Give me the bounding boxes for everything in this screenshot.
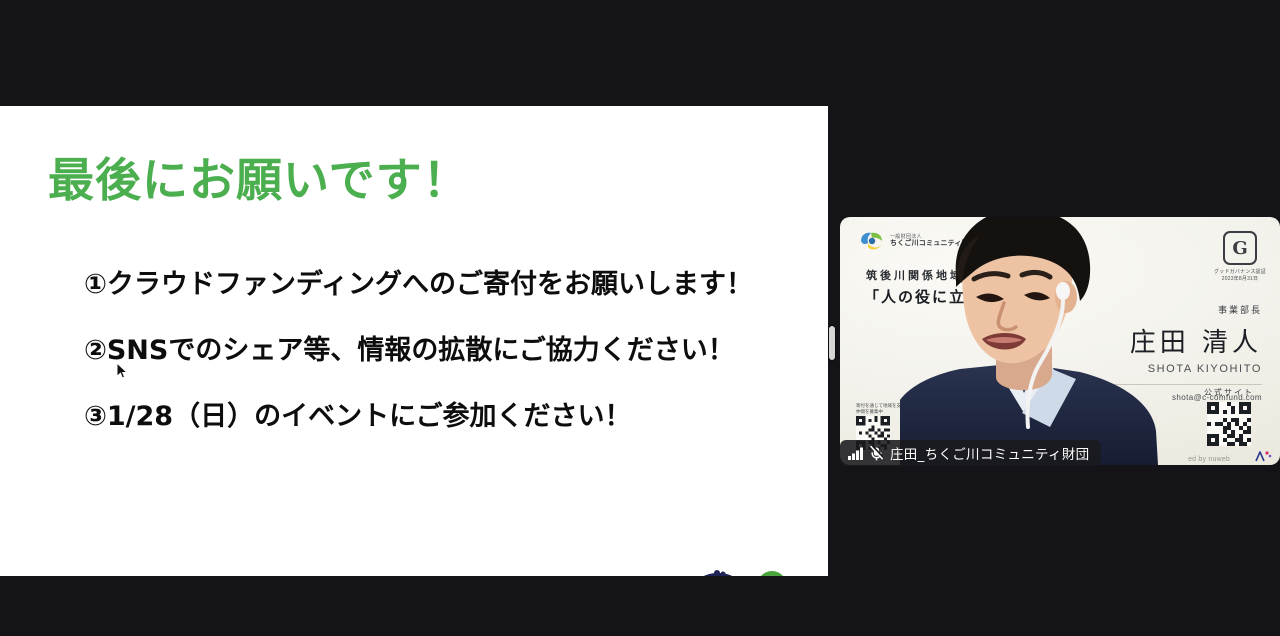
nuweb-brand-icon — [1254, 449, 1272, 463]
award-mark-icon: G — [1223, 231, 1257, 265]
screen-share-window: 最後にお願いです！ ①クラウドファンディングへのご寄付をお願いします！ ②SNS… — [0, 0, 1280, 636]
share-view-scrollbar-thumb[interactable] — [828, 325, 836, 361]
participant-person — [900, 217, 1160, 465]
good-governance-badge: G グッドガバナンス認証 2023年8月31日 — [1214, 231, 1266, 282]
official-site-caption: 公式サイト — [1194, 387, 1264, 398]
slide-bullet-2: ②SNSでのシェア等、情報の拡散にご協力ください！ — [84, 328, 735, 367]
participant-video-tile[interactable]: 一般財団法人 ちくご川コミュニティ財団 筑後川関係地域 「人の役に立 G グッド… — [840, 217, 1280, 465]
slide-title: 最後にお願いです！ — [48, 144, 470, 210]
shared-slide[interactable]: 最後にお願いです！ ①クラウドファンディングへのご寄付をお願いします！ ②SNS… — [0, 106, 830, 576]
official-site-block: 公式サイト — [1194, 387, 1264, 451]
mouse-cursor — [116, 362, 128, 380]
two-children-illustration — [676, 570, 818, 576]
signal-bars-icon — [848, 447, 863, 460]
official-site-qr-code — [1207, 402, 1251, 446]
comfund-logo-icon — [858, 231, 884, 251]
microphone-muted-icon — [870, 446, 883, 461]
award-caption-1: グッドガバナンス認証 — [1214, 268, 1266, 275]
virtual-bg-credit: ed by nuweb — [1188, 456, 1230, 463]
participant-name-text: 庄田_ちくご川コミュニティ財団 — [890, 443, 1089, 463]
award-caption-2: 2023年8月31日 — [1214, 275, 1266, 282]
slide-bullet-1: ①クラウドファンディングへのご寄付をお願いします！ — [84, 262, 753, 301]
participant-name-label: 庄田_ちくご川コミュニティ財団 — [840, 440, 1101, 466]
slide-bullet-3: ③1/28（日）のイベントにご参加ください！ — [84, 394, 632, 433]
